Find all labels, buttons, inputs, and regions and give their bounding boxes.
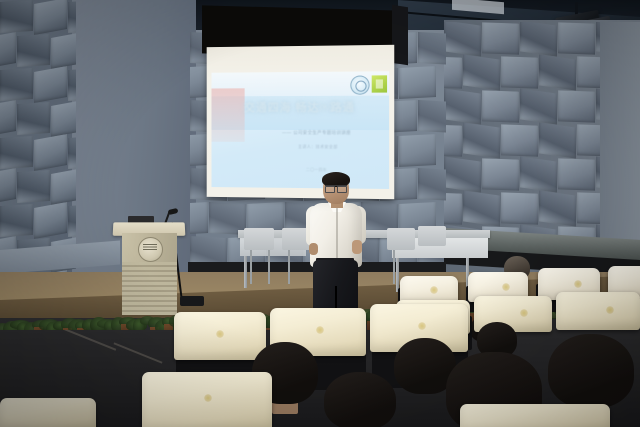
acoustic-block xyxy=(520,156,557,192)
acoustic-block xyxy=(596,88,600,124)
acoustic-block xyxy=(520,88,557,124)
acoustic-block xyxy=(463,54,500,90)
acoustic-block xyxy=(444,122,462,158)
acoustic-block xyxy=(68,202,76,239)
acoustic-block xyxy=(482,22,519,57)
acoustic-block xyxy=(68,0,76,35)
table-leg xyxy=(244,256,247,288)
audience-seat xyxy=(556,292,640,330)
acoustic-block xyxy=(501,190,538,226)
acoustic-block xyxy=(501,122,538,158)
acoustic-block xyxy=(558,22,595,57)
acoustic-block xyxy=(418,168,446,201)
stage-chair-leg xyxy=(288,250,290,284)
acoustic-block xyxy=(17,100,50,137)
acoustic-block xyxy=(34,0,67,35)
green-brand-logo xyxy=(372,75,387,92)
audience-head xyxy=(324,372,396,427)
acoustic-block xyxy=(463,190,500,226)
acoustic-block xyxy=(0,32,16,69)
stage-chair-leg xyxy=(250,250,252,284)
acoustic-block xyxy=(51,100,76,137)
acoustic-block xyxy=(444,88,481,124)
organization-emblem-logo xyxy=(350,75,369,94)
acoustic-block xyxy=(444,156,481,192)
audience-head xyxy=(548,334,634,408)
acoustic-block xyxy=(596,156,600,192)
acoustic-block xyxy=(558,88,595,124)
podium-crest-emblem xyxy=(138,237,163,262)
audience-seat xyxy=(460,404,610,427)
presenter-shirt-placket xyxy=(336,208,338,262)
acoustic-block xyxy=(418,32,446,65)
acoustic-block xyxy=(482,156,519,192)
acoustic-block xyxy=(558,156,595,192)
screen-hood-side xyxy=(392,5,408,66)
acoustic-block xyxy=(399,66,436,99)
slide-subtitle-2: 主讲人：技术安全部 xyxy=(298,144,383,150)
acoustic-block xyxy=(51,32,76,69)
acoustic-block xyxy=(418,100,446,133)
acoustic-block xyxy=(190,66,208,99)
presenter-left-hand xyxy=(309,243,318,255)
eyeglasses-icon xyxy=(325,185,347,191)
acoustic-block xyxy=(539,190,576,226)
audience-seat xyxy=(174,312,266,360)
acoustic-block xyxy=(577,190,600,226)
stage-chair-leg xyxy=(268,250,270,284)
acoustic-block xyxy=(0,168,16,205)
audience-seat xyxy=(0,398,96,427)
acoustic-panels-right xyxy=(444,22,600,257)
acoustic-block xyxy=(0,134,33,171)
stage-chair xyxy=(387,228,415,250)
acoustic-block xyxy=(596,22,600,57)
acoustic-block xyxy=(539,54,576,90)
acoustic-block xyxy=(34,66,67,103)
acoustic-block xyxy=(444,22,481,57)
audience-seat xyxy=(142,372,272,427)
acoustic-block xyxy=(539,122,576,158)
acoustic-block xyxy=(501,54,538,90)
slide-title: 交通四海 畅达￼路通 xyxy=(225,99,375,115)
table-leg xyxy=(396,258,399,292)
acoustic-block xyxy=(34,134,67,171)
acoustic-block xyxy=(190,202,208,235)
acoustic-block xyxy=(17,32,50,69)
acoustic-block xyxy=(190,134,208,167)
acoustic-block xyxy=(0,100,16,137)
projected-slide: 交通四海 畅达￼路通 —— 公司安全生产专题培训讲座 主讲人：技术安全部 二〇一… xyxy=(212,71,390,189)
slide-subtitle-1: —— 公司安全生产专题培训讲座 xyxy=(282,130,383,136)
stage-chair xyxy=(244,228,274,250)
stage-chair-leg xyxy=(393,250,395,284)
acoustic-block xyxy=(17,168,50,205)
acoustic-block xyxy=(444,190,462,226)
acoustic-block xyxy=(34,202,67,239)
acoustic-block xyxy=(399,134,436,167)
acoustic-block xyxy=(51,168,76,205)
acoustic-block xyxy=(0,66,33,103)
projection-screen: 交通四海 畅达￼路通 —— 公司安全生产专题培训讲座 主讲人：技术安全部 二〇一… xyxy=(207,45,395,199)
acoustic-block xyxy=(577,54,600,90)
acoustic-block xyxy=(463,122,500,158)
acoustic-block xyxy=(68,66,76,103)
acoustic-block xyxy=(68,134,76,171)
acoustic-block xyxy=(520,22,557,57)
conference-hall-photo: 交通四海 畅达￼路通 —— 公司安全生产专题培训讲座 主讲人：技术安全部 二〇一… xyxy=(0,0,640,427)
stage-chair xyxy=(418,226,446,246)
acoustic-block xyxy=(0,202,33,239)
slide-subtitle-3: 二〇一四年 xyxy=(306,168,385,174)
acoustic-block xyxy=(577,122,600,158)
acoustic-block xyxy=(482,88,519,124)
acoustic-block xyxy=(0,0,33,35)
presenter-right-hand xyxy=(352,240,362,254)
acoustic-block xyxy=(444,54,462,90)
acoustic-block xyxy=(190,236,227,264)
